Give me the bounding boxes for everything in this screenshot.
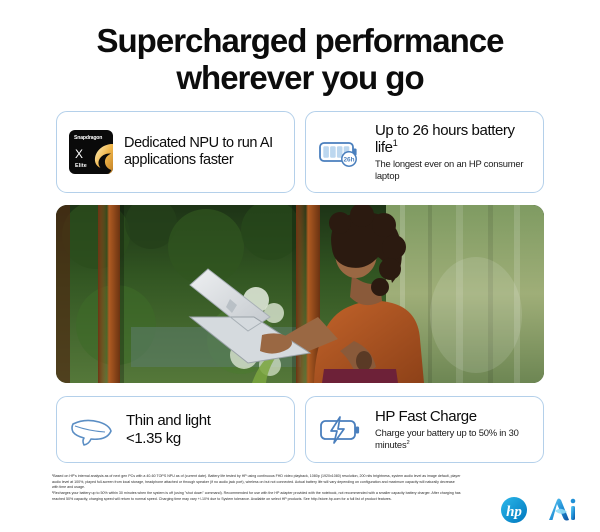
feature-card-battery-text: Up to 26 hours battery life1 The longest… [375, 122, 531, 182]
footnote-2: ²Recharges your battery up to 50% within… [52, 491, 462, 502]
footnotes: ¹Based on HP's internal analysis as of n… [52, 474, 462, 503]
hp-logo-text: hp [506, 504, 522, 520]
feather-icon [69, 414, 115, 446]
feature-card-thin-title-line1: Thin and light [126, 412, 282, 429]
footnote-1: ¹Based on HP's internal analysis as of n… [52, 474, 462, 491]
ai-ribbon-logo [546, 496, 578, 524]
feature-card-battery: 26h Up to 26 hours battery life1 The lon… [305, 111, 544, 193]
snapdragon-x-elite-chip-icon: Snapdragon X Elite [69, 130, 113, 174]
battery-hours-icon: 26h [318, 136, 364, 168]
feature-cards-row-bottom: Thin and light <1.35 kg HP Fast Charge C… [0, 396, 600, 463]
feature-card-fast-charge: HP Fast Charge Charge your battery up to… [305, 396, 544, 463]
feature-cards-row-top: Snapdragon X Elite [0, 111, 600, 193]
headline-line-2: wherever you go [0, 59, 600, 96]
chip-series-label: X [75, 148, 83, 160]
feature-card-thin-text: Thin and light <1.35 kg [126, 412, 282, 447]
feature-card-battery-title: Up to 26 hours battery life1 [375, 122, 531, 157]
feature-card-npu-title: Dedicated NPU to run AI applications fas… [124, 135, 282, 169]
hp-logo: hp [497, 496, 537, 524]
footnote-marker-2: 2 [406, 440, 409, 446]
headline-line-1: Supercharged performance [97, 22, 504, 59]
page-title: Supercharged performance wherever you go [0, 0, 600, 97]
hp-laptop-marketing-banner: Supercharged performance wherever you go… [0, 0, 600, 532]
snapdragon-swirl-icon [85, 142, 113, 174]
feature-card-battery-subtitle: The longest ever on an HP consumer lapto… [375, 158, 531, 182]
brand-logos: hp [497, 496, 578, 524]
feature-card-fast-charge-text: HP Fast Charge Charge your battery up to… [375, 408, 531, 451]
feature-card-fast-charge-subtitle: Charge your battery up to 50% in 30 minu… [375, 427, 531, 451]
woman-using-hp-laptop-by-window [56, 205, 544, 383]
battery-lightning-icon [318, 414, 364, 446]
feature-card-npu-text: Dedicated NPU to run AI applications fas… [124, 135, 282, 169]
footnote-marker-1: 1 [393, 138, 398, 148]
feature-card-npu: Snapdragon X Elite [56, 111, 295, 193]
battery-hours-badge-label: 26h [343, 156, 354, 163]
feature-card-fast-charge-title: HP Fast Charge [375, 408, 531, 425]
feature-card-thin-and-light: Thin and light <1.35 kg [56, 396, 295, 463]
chip-brand-label: Snapdragon [74, 135, 102, 141]
feature-card-thin-title-line2: <1.35 kg [126, 430, 282, 447]
